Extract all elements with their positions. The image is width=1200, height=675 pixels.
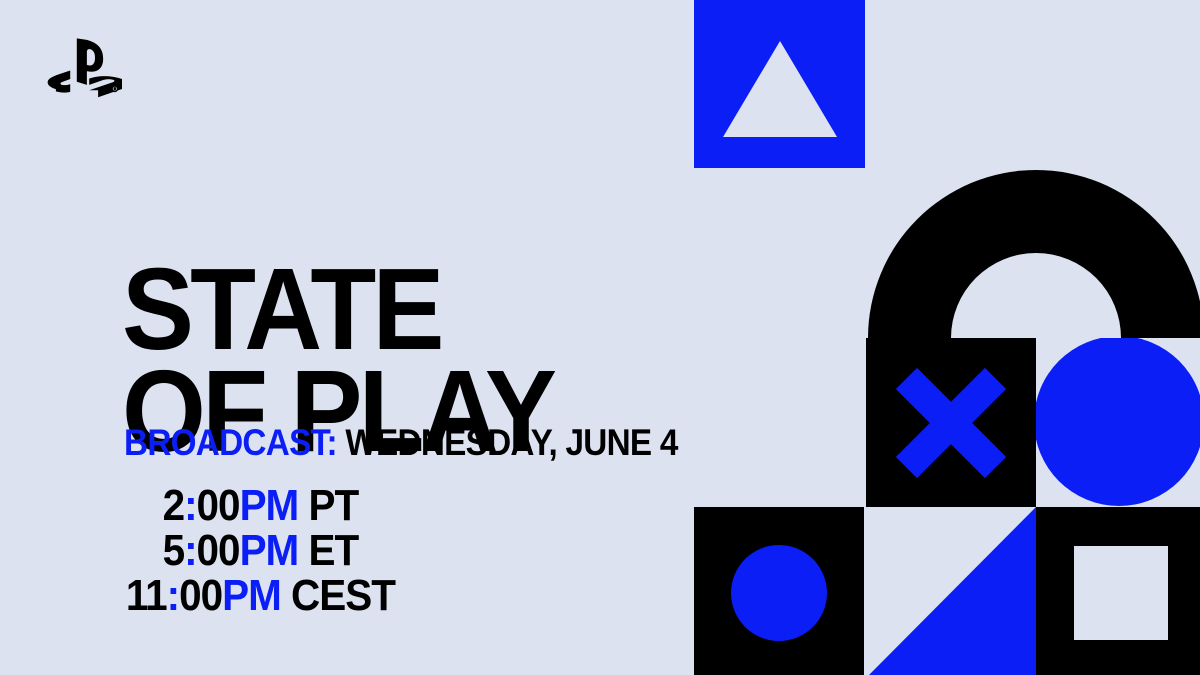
time-zone: ET (309, 526, 359, 575)
square-icon (1074, 546, 1168, 640)
square-tile (1036, 507, 1200, 675)
time-zone: CEST (291, 571, 395, 620)
arc-band-core (1036, 338, 1200, 506)
time-row: 5:00PM ET (104, 529, 417, 574)
cross-icon (866, 338, 1036, 508)
time-minutes: 00 (179, 571, 222, 620)
time-colon: : (167, 571, 179, 620)
triangle-icon (723, 41, 837, 137)
time-meridiem: PM (222, 571, 281, 620)
diagonal-tile (866, 507, 1036, 675)
time-zone: PT (309, 481, 359, 530)
playstation-logo-icon (44, 36, 122, 98)
time-meridiem: PM (240, 526, 299, 575)
state-of-play-promo-graphic: STATE OF PLAY BROADCAST: WEDNESDAY, JUNE… (0, 0, 1200, 675)
diagonal-triangle-icon (866, 507, 1036, 675)
triangle-tile (694, 0, 865, 168)
time-colon: : (184, 526, 196, 575)
time-hour: 11 (126, 571, 167, 620)
time-row: 2:00PM PT (104, 484, 417, 529)
arc-ring-icon (868, 170, 1200, 506)
time-row: 11:00PM CEST (104, 574, 417, 619)
headline-line-1: STATE (122, 258, 699, 360)
circle-icon (731, 545, 827, 641)
time-hour: 5 (163, 526, 185, 575)
broadcast-times: 2:00PM PT 5:00PM ET 11:00PM CEST (104, 484, 417, 619)
time-hour: 2 (163, 481, 185, 530)
time-minutes: 00 (197, 481, 240, 530)
arc-ring-blue-tile (1036, 338, 1200, 508)
circle-tile (694, 507, 864, 675)
broadcast-date: WEDNESDAY, JUNE 4 (345, 422, 677, 463)
arc-ring-inner-cut (951, 253, 1121, 423)
time-colon: : (184, 481, 196, 530)
broadcast-label: BROADCAST: (124, 422, 337, 463)
time-minutes: 00 (197, 526, 240, 575)
time-meridiem: PM (240, 481, 299, 530)
cross-tile (866, 338, 1036, 508)
arc-band-light (1036, 338, 1200, 508)
broadcast-line: BROADCAST: WEDNESDAY, JUNE 4 (124, 424, 678, 461)
